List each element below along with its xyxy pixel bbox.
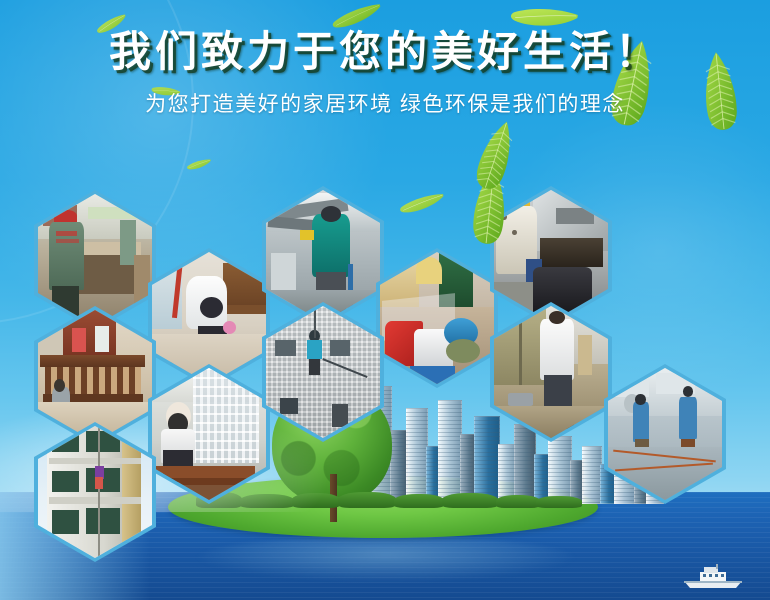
hex-chandelier-cleaning[interactable] <box>148 364 270 504</box>
hex-lobby-floor-machine[interactable] <box>490 302 612 442</box>
promotional-banner: 我们致力于您的美好生活！ 为您打造美好的家居环境 绿色环保是我们的理念 <box>0 0 770 600</box>
headline-block: 我们致力于您的美好生活！ 为您打造美好的家居环境 绿色环保是我们的理念 <box>0 30 770 118</box>
hex-rooftop-washing[interactable] <box>604 364 726 504</box>
banner-headline: 我们致力于您的美好生活！ <box>0 30 770 74</box>
hex-building-rope-access[interactable] <box>34 422 156 562</box>
banner-subheadline: 为您打造美好的家居环境 绿色环保是我们的理念 <box>0 88 770 118</box>
hex-floor-polishing[interactable] <box>376 248 498 388</box>
hex-exterior-wall-rope[interactable] <box>262 302 384 442</box>
